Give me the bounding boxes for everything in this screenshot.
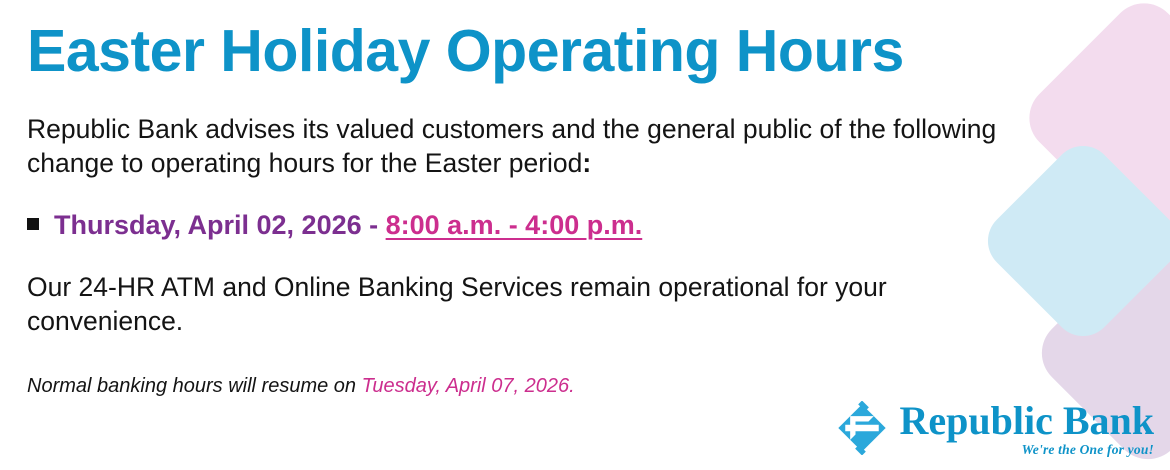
- resume-note-date: Tuesday, April 07, 2026.: [362, 375, 575, 397]
- banner-content: Easter Holiday Operating Hours Republic …: [0, 0, 1170, 399]
- logo-text-block: Republic Bank We're the One for you!: [899, 401, 1154, 457]
- hours-date: Thursday, April 02, 2026 -: [54, 210, 386, 240]
- resume-note: Normal banking hours will resume on Tues…: [27, 373, 1170, 399]
- diamond-logo-mark-icon: [835, 401, 889, 455]
- intro-text: Republic Bank advises its valued custome…: [27, 114, 996, 178]
- page-title: Easter Holiday Operating Hours: [27, 22, 1170, 81]
- hours-time: 8:00 a.m. - 4:00 p.m.: [386, 210, 643, 240]
- intro-paragraph: Republic Bank advises its valued custome…: [27, 113, 1007, 181]
- republic-bank-logo: Republic Bank We're the One for you!: [835, 401, 1154, 457]
- hours-list: Thursday, April 02, 2026 - 8:00 a.m. - 4…: [27, 209, 1170, 241]
- intro-colon: :: [582, 148, 591, 178]
- list-item: Thursday, April 02, 2026 - 8:00 a.m. - 4…: [27, 209, 1170, 241]
- atm-notice-paragraph: Our 24-HR ATM and Online Banking Service…: [27, 271, 1007, 339]
- easter-holiday-hours-banner: Easter Holiday Operating Hours Republic …: [0, 0, 1170, 470]
- logo-name: Republic Bank: [899, 401, 1154, 441]
- hours-line: Thursday, April 02, 2026 - 8:00 a.m. - 4…: [54, 209, 642, 241]
- square-bullet-icon: [27, 218, 39, 230]
- logo-tagline: We're the One for you!: [1022, 443, 1154, 457]
- resume-note-prefix: Normal banking hours will resume on: [27, 375, 362, 397]
